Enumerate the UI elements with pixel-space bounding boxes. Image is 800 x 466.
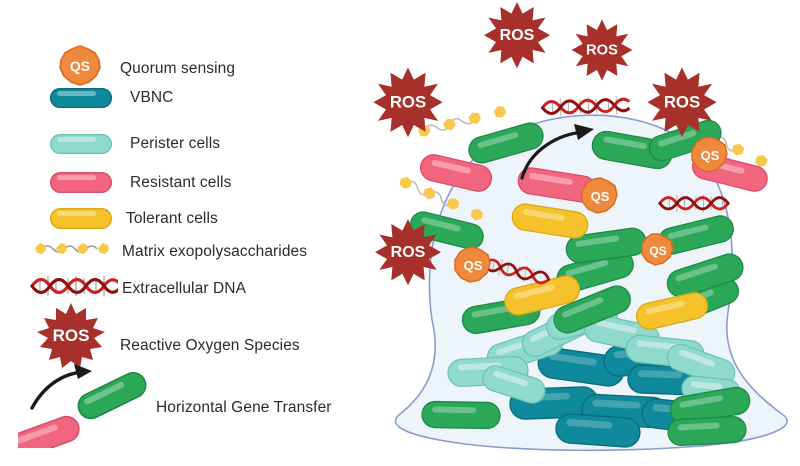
eps-chain-icon	[28, 236, 118, 267]
qs-label: QS	[701, 148, 720, 163]
ros-label: ROS	[390, 92, 426, 111]
quorum-sensing-icon: QS	[58, 44, 102, 93]
legend-label-tolerant-cells: Tolerant cells	[126, 210, 218, 228]
ros-label: ROS	[500, 27, 535, 44]
hgt-icon	[18, 352, 148, 453]
ros-icon-label: ROS	[53, 326, 90, 345]
legend-item-vbnc: VBNC	[50, 88, 173, 108]
tolerant-cell-icon	[50, 208, 112, 229]
legend-label-persister-cells: Perister cells	[130, 135, 220, 153]
legend-item-matrix-eps: Matrix exopolysaccharides	[28, 236, 307, 267]
legend-item-resistant-cells: Resistant cells	[50, 172, 231, 193]
legend-item-persister-cells: Perister cells	[50, 134, 220, 154]
ros-particle-top-center: ROS	[484, 2, 550, 68]
qs-label: QS	[649, 244, 666, 258]
persister-cell-icon	[50, 134, 112, 154]
legend-label-matrix-eps: Matrix exopolysaccharides	[122, 243, 307, 261]
qs-icon-label: QS	[70, 58, 90, 74]
legend-item-quorum-sensing: QS Quorum sensing	[58, 44, 235, 93]
ros-particle-top-right-mid: ROS	[572, 19, 633, 80]
legend-item-tolerant-cells: Tolerant cells	[50, 208, 218, 229]
edna-top-center	[542, 96, 629, 117]
ros-label: ROS	[391, 244, 426, 261]
qs-label: QS	[591, 189, 610, 204]
legend-panel: QS Quorum sensing VBNC Perister cells Re…	[0, 0, 380, 466]
qs-label: QS	[464, 258, 483, 273]
legend-label-vbnc: VBNC	[130, 89, 173, 107]
legend-label-resistant-cells: Resistant cells	[130, 174, 231, 192]
hgt-pink-cell-icon	[18, 413, 82, 448]
figure-canvas: QS Quorum sensing VBNC Perister cells Re…	[0, 0, 800, 466]
biofilm-svg: QS QS QS QS ROS ROS	[370, 0, 800, 466]
legend-label-hgt: Horizontal Gene Transfer	[156, 399, 332, 417]
ros-label: ROS	[586, 42, 618, 58]
resistant-cell-icon	[50, 172, 112, 193]
ros-particle-top-left-outer: ROS	[373, 67, 442, 137]
legend-label-extracellular-dna: Extracellular DNA	[122, 280, 246, 298]
ros-label: ROS	[664, 92, 700, 111]
legend-label-quorum-sensing: Quorum sensing	[120, 60, 235, 78]
vbnc-cell-icon	[50, 88, 112, 108]
hgt-green-cell-icon	[74, 369, 148, 423]
legend-item-hgt: Horizontal Gene Transfer	[18, 352, 332, 453]
biofilm-illustration: QS QS QS QS ROS ROS	[370, 0, 800, 466]
